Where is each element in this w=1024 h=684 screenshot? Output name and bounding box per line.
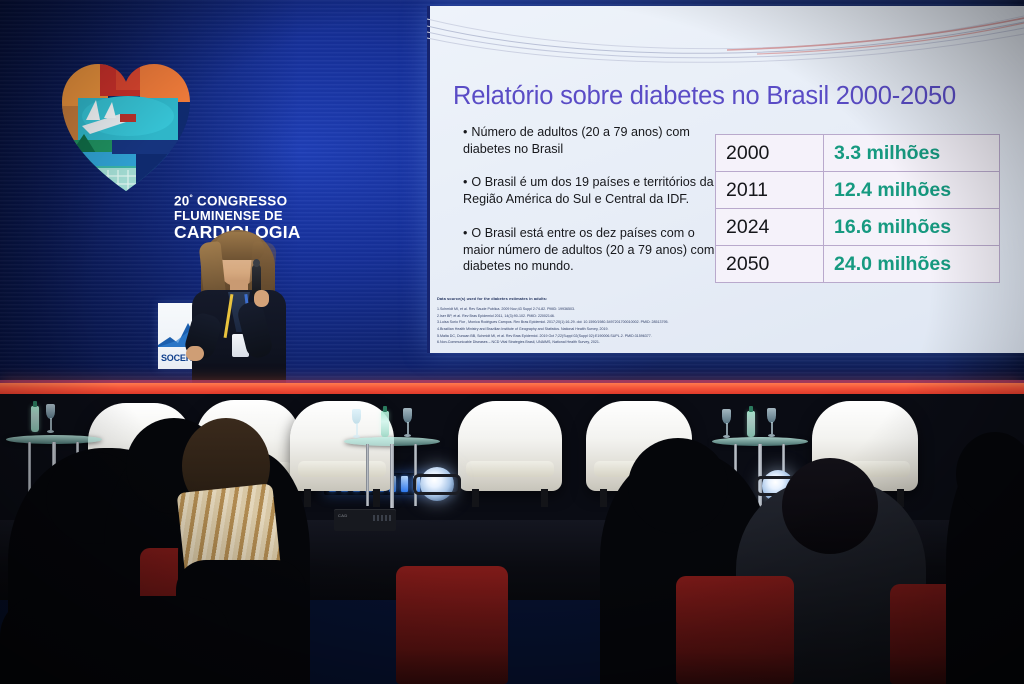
slide-bullet-item: •O Brasil está entre os dez países com o… (463, 225, 718, 275)
slide-title: Relatório sobre diabetes no Brasil 2000-… (453, 82, 1013, 111)
stage-chair (458, 401, 562, 491)
table-cell-value: 12.4 milhões (824, 172, 1000, 209)
bullet-marker-icon: • (463, 175, 467, 189)
speaker-hand-right (254, 290, 269, 307)
table-stem (366, 444, 369, 506)
heart-collage-icon (56, 56, 196, 196)
audience-seat (676, 576, 794, 684)
light-base-label: CAD (338, 513, 348, 518)
water-bottle (31, 406, 39, 432)
slide-swoosh-decoration (427, 6, 1024, 76)
bullet-text: O Brasil está entre os dez países com o … (463, 226, 714, 273)
slide-bullet-item: •O Brasil é um dos 19 países e territóri… (463, 174, 718, 207)
footnote-item: 3.Luisa Sorio Flor , Monica Rodrigues Ca… (437, 319, 997, 326)
audience-head (782, 458, 878, 554)
congress-logo-line2: FLUMINENSE DE (174, 208, 344, 223)
table-cell-year: 2011 (716, 172, 824, 209)
table-stem (390, 444, 394, 508)
bullet-marker-icon: • (463, 226, 467, 240)
light-base-vents (373, 515, 391, 521)
table-row: 2024 16.6 milhões (716, 209, 1000, 246)
audience-seat (396, 566, 508, 684)
table-cell-year: 2000 (716, 135, 824, 172)
audience-head (956, 432, 1024, 516)
wine-glass (722, 409, 731, 439)
presentation-slide: Relatório sobre diabetes no Brasil 2000-… (427, 6, 1024, 353)
footnote-item: 2.Iser BP, et al. Rev Bras Epidemiol 201… (437, 313, 997, 320)
footnote-item: 1.Schmidt MI, et al. Rev Saude Publica. … (437, 306, 997, 313)
footnote-reference-list: 1.Schmidt MI, et al. Rev Saude Publica. … (437, 306, 997, 346)
wine-glass (767, 408, 776, 438)
audience-silhouette (0, 596, 230, 684)
diabetes-data-table: 2000 3.3 milhões 2011 12.4 milhões 2024 … (715, 134, 1000, 283)
water-bottle (381, 411, 389, 437)
speaker-presenter (180, 228, 298, 394)
bullet-marker-icon: • (463, 125, 467, 139)
table-cell-year: 2024 (716, 209, 824, 246)
conference-photo-scene: 20º CONGRESSO FLUMINENSE DE CARDIOLOGIA … (0, 0, 1024, 684)
water-bottle (747, 411, 755, 437)
bullet-text: Número de adultos (20 a 79 anos) com dia… (463, 125, 690, 156)
audience-head (628, 438, 728, 534)
stage-moving-head-light (420, 467, 454, 501)
congress-logo: 20º CONGRESSO FLUMINENSE DE CARDIOLOGIA (48, 52, 288, 212)
stage-led-strip (0, 383, 1024, 394)
wine-glass (403, 408, 412, 438)
table-cell-value: 24.0 milhões (824, 246, 1000, 283)
wine-glass (352, 409, 361, 439)
speaker-hand-left (186, 346, 204, 361)
congress-logo-line1: 20º CONGRESSO (174, 194, 344, 208)
slide-bullet-list: •Número de adultos (20 a 79 anos) com di… (463, 124, 718, 292)
table-cell-year: 2050 (716, 246, 824, 283)
wine-glass (46, 404, 55, 434)
footnote-item: 5.Malta DC, Duncan BB, Schmidt MI, et al… (437, 333, 997, 340)
table-row: 2011 12.4 milhões (716, 172, 1000, 209)
table-row: 2050 24.0 milhões (716, 246, 1000, 283)
table-row: 2000 3.3 milhões (716, 135, 1000, 172)
chair-seat (466, 461, 553, 477)
table-cell-value: 16.6 milhões (824, 209, 1000, 246)
bullet-text: O Brasil é um dos 19 países e território… (463, 175, 714, 206)
footnote-item: 6.Non-Communicable Diseases – NCD Vital … (437, 339, 997, 346)
stage-light-base: CAD (334, 509, 396, 531)
slide-bullet-item: •Número de adultos (20 a 79 anos) com di… (463, 124, 718, 157)
footnote-heading: Data source(s) used for the diabetes est… (437, 296, 857, 301)
footnote-item: 4.Brazilian Health Ministry and Brazilia… (437, 326, 997, 333)
table-cell-value: 3.3 milhões (824, 135, 1000, 172)
light-yoke (413, 474, 461, 495)
